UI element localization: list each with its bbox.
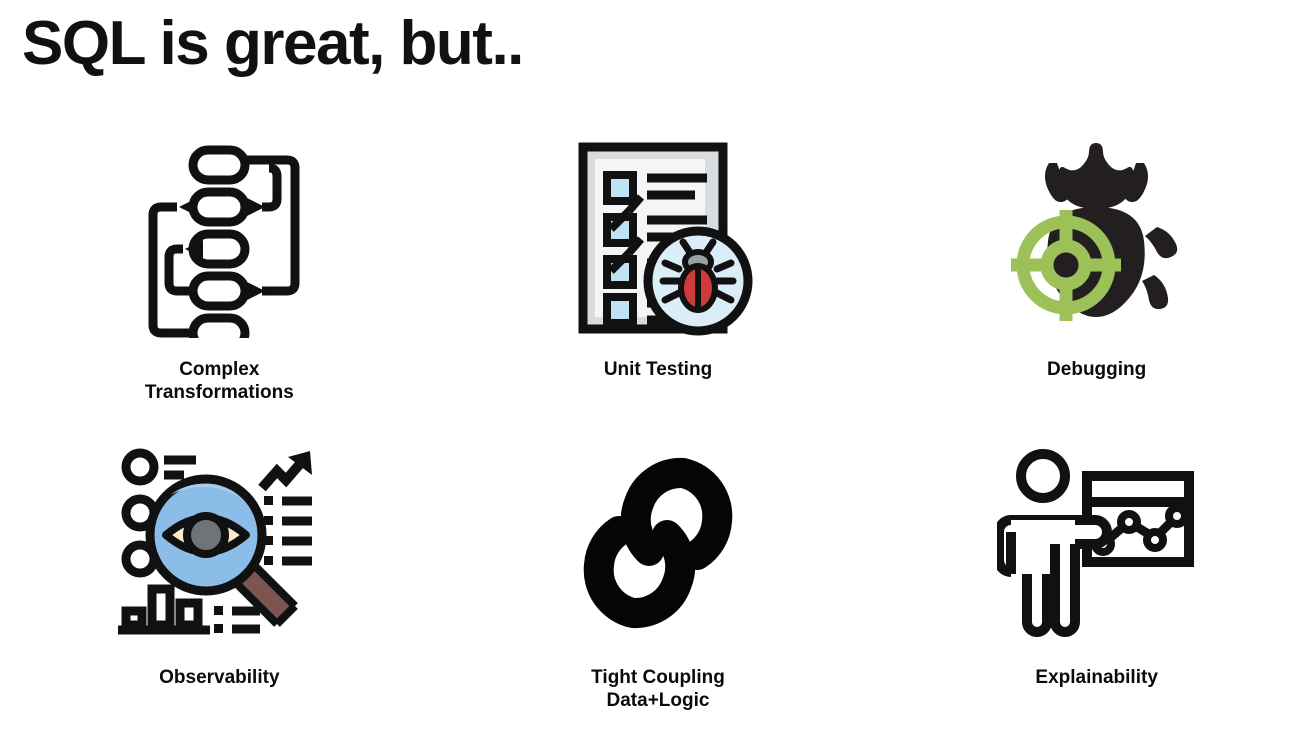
card-complex-transformations[interactable]: Complex Transformations (0, 130, 439, 440)
icon-slot (994, 130, 1199, 345)
tight-coupling-icon (563, 443, 753, 643)
card-label: Explainability (1035, 667, 1157, 690)
card-debugging[interactable]: Debugging (877, 130, 1316, 440)
concept-grid: Complex Transformations (0, 130, 1316, 750)
slide-canvas: SQL is great, but.. (0, 0, 1316, 752)
icon-slot (997, 440, 1197, 645)
icon-slot (119, 130, 319, 345)
card-label: Complex Transformations (145, 359, 294, 405)
card-label: Unit Testing (604, 359, 712, 382)
debugging-icon (994, 135, 1199, 340)
card-label: Debugging (1047, 359, 1146, 382)
unit-testing-icon (555, 135, 760, 340)
card-explainability[interactable]: Explainability (877, 440, 1316, 750)
icon-slot (555, 130, 760, 345)
card-unit-testing[interactable]: Unit Testing (439, 130, 878, 440)
card-observability[interactable]: Observability (0, 440, 439, 750)
card-label: Observability (159, 667, 279, 690)
card-tight-coupling[interactable]: Tight Coupling Data+Logic (439, 440, 878, 750)
icon-slot (563, 440, 753, 645)
explainability-icon (997, 448, 1197, 638)
card-label: Tight Coupling Data+Logic (591, 667, 725, 713)
observability-icon (114, 443, 324, 643)
complex-transformations-icon (119, 138, 319, 338)
page-title: SQL is great, but.. (22, 8, 523, 79)
icon-slot (114, 440, 324, 645)
